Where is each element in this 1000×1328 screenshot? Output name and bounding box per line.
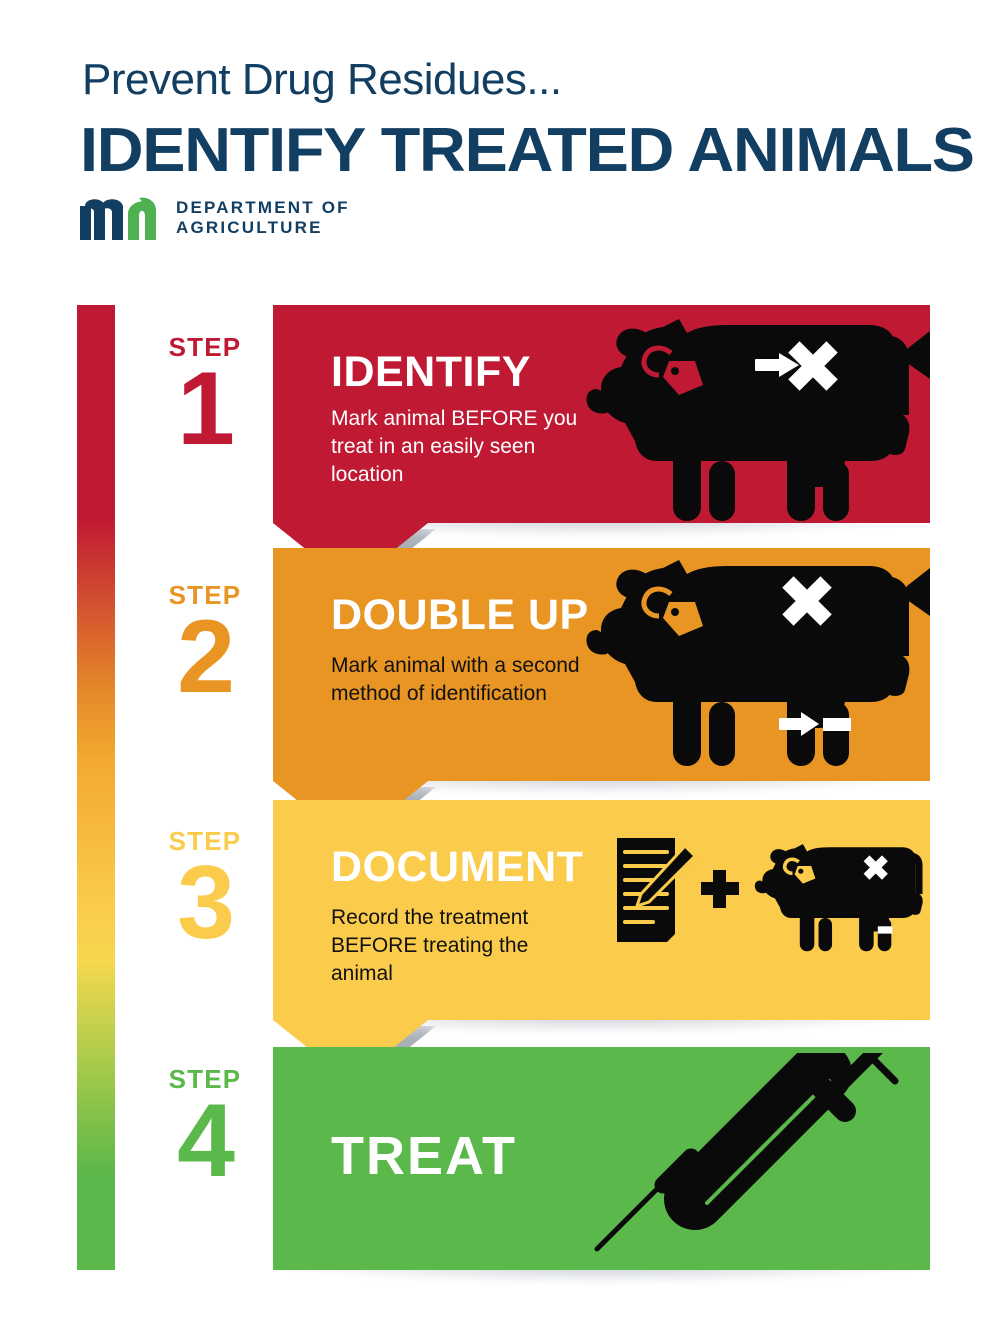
step-3-title: DOCUMENT bbox=[331, 846, 583, 889]
step-3-panel: DOCUMENT Record the treatment BEFORE tre… bbox=[273, 800, 930, 1020]
record-sheet-plus-cow-icon bbox=[613, 830, 923, 970]
step-4-panel: TREAT bbox=[273, 1047, 930, 1270]
step-1-panel-body: IDENTIFY Mark animal BEFORE you treat in… bbox=[273, 305, 930, 523]
plus-icon bbox=[701, 870, 739, 908]
mn-logo-icon bbox=[80, 196, 162, 240]
page-title: IDENTIFY TREATED ANIMALS bbox=[80, 120, 974, 182]
step-4-title: TREAT bbox=[331, 1129, 517, 1183]
header: Prevent Drug Residues... IDENTIFY TREATE… bbox=[0, 0, 1000, 270]
leg-band-icon bbox=[823, 718, 851, 731]
step-2-label: STEP 2 bbox=[150, 582, 260, 706]
step-4-number: 4 bbox=[150, 1094, 260, 1190]
step-3-text: Record the treatment BEFORE treating the… bbox=[331, 904, 581, 988]
logo-line-1: DEPARTMENT OF bbox=[176, 198, 350, 217]
kicker-text: Prevent Drug Residues... bbox=[82, 58, 562, 102]
step-2-text: Mark animal with a second method of iden… bbox=[331, 652, 599, 708]
step-2-panel: DOUBLE UP Mark animal with a second meth… bbox=[273, 548, 930, 781]
step-3-panel-body: DOCUMENT Record the treatment BEFORE tre… bbox=[273, 800, 930, 1020]
syringe-icon bbox=[583, 1053, 923, 1263]
cow-with-eartag-and-hip-x-icon bbox=[583, 311, 931, 523]
step-3-label: STEP 3 bbox=[150, 828, 260, 952]
cow-with-eartag-x-and-leg-band-icon bbox=[583, 552, 931, 778]
mn-dept-agriculture-logo: DEPARTMENT OF AGRICULTURE bbox=[80, 196, 500, 246]
step-2-title: DOUBLE UP bbox=[331, 594, 589, 637]
step-4-panel-body: TREAT bbox=[273, 1047, 930, 1270]
step-2-number: 2 bbox=[150, 610, 260, 706]
color-gradient-rail bbox=[77, 305, 115, 1270]
step-1-text: Mark animal BEFORE you treat in an easil… bbox=[331, 405, 599, 489]
document-with-pencil-icon bbox=[617, 838, 695, 942]
step-4-label: STEP 4 bbox=[150, 1066, 260, 1190]
logo-line-2: AGRICULTURE bbox=[176, 218, 350, 238]
logo-wordmark: DEPARTMENT OF AGRICULTURE bbox=[176, 198, 350, 238]
step-1-panel: IDENTIFY Mark animal BEFORE you treat in… bbox=[273, 305, 930, 523]
step-3-number: 3 bbox=[150, 856, 260, 952]
step-1-title: IDENTIFY bbox=[331, 351, 531, 394]
step-2-panel-body: DOUBLE UP Mark animal with a second meth… bbox=[273, 548, 930, 781]
step-1-number: 1 bbox=[150, 362, 260, 458]
step-1-label: STEP 1 bbox=[150, 334, 260, 458]
